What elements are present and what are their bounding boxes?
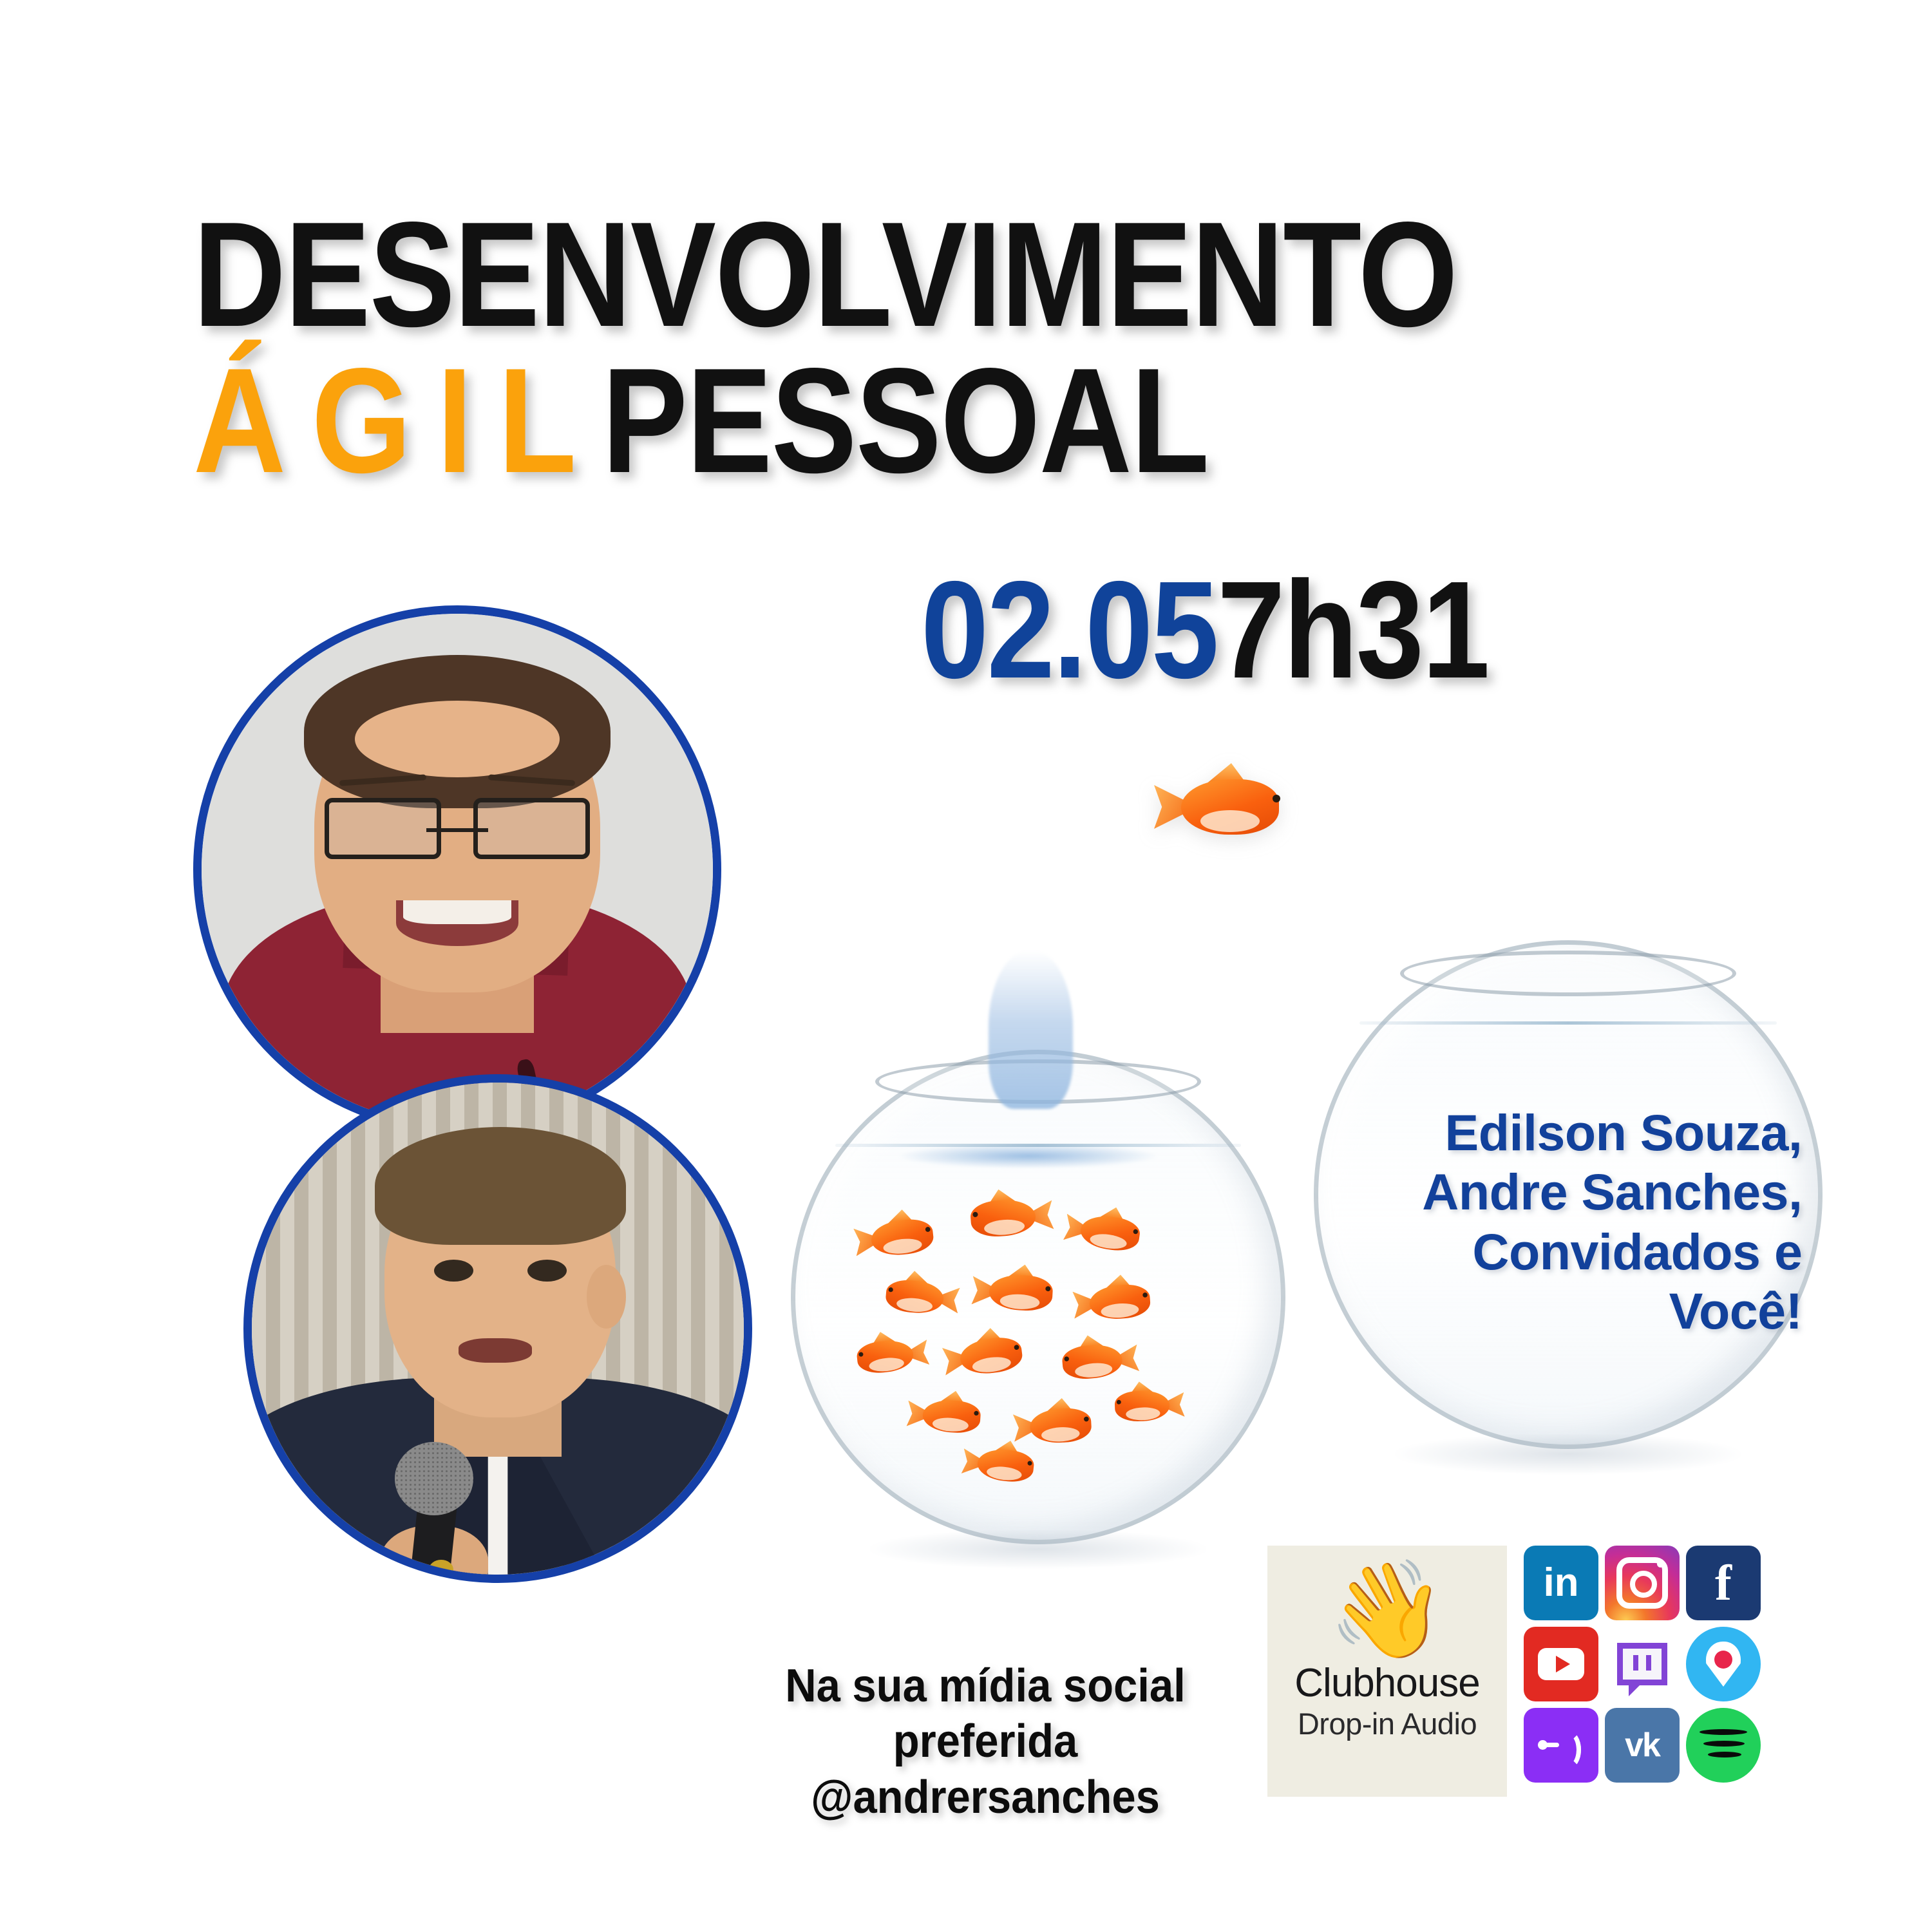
- water-splash: [989, 951, 1073, 1109]
- event-datetime: 02.057h31: [921, 560, 1488, 699]
- clubhouse-name: Clubhouse: [1294, 1660, 1479, 1706]
- speaker-line-3: Convidados e: [1334, 1222, 1803, 1282]
- jumping-fish-icon: [1159, 779, 1294, 838]
- portrait-speaker-1: [193, 605, 721, 1133]
- title-block: DESENVOLVIMENTO ÁGILPESSOAL: [193, 206, 1739, 490]
- poster-canvas: DESENVOLVIMENTO ÁGILPESSOAL 02.057h31: [0, 0, 1932, 1932]
- facebook-glyph: f: [1715, 1560, 1732, 1605]
- microphone-icon: [395, 1442, 473, 1516]
- twitch-icon[interactable]: [1605, 1627, 1680, 1701]
- title-line-1: DESENVOLVIMENTO: [193, 206, 1522, 343]
- portrait-1-artwork: [202, 614, 713, 1125]
- linkedin-icon[interactable]: in: [1524, 1546, 1598, 1620]
- vk-icon[interactable]: vk: [1605, 1708, 1680, 1783]
- clubhouse-logo: 👋 Clubhouse Drop-in Audio: [1267, 1546, 1507, 1797]
- instagram-icon[interactable]: [1605, 1546, 1680, 1620]
- social-media-callout: Na sua mídia social preferida @andrersan…: [716, 1658, 1255, 1825]
- periscope-icon[interactable]: [1686, 1627, 1761, 1701]
- spotify-icon[interactable]: [1686, 1708, 1761, 1783]
- portrait-2-artwork: [252, 1083, 744, 1575]
- clubhouse-subtitle: Drop-in Audio: [1298, 1706, 1477, 1741]
- social-icon-grid: in f vk: [1524, 1546, 1761, 1783]
- empty-fishbowl: Edilson Souza, Andre Sanches, Convidados…: [1314, 940, 1823, 1449]
- event-date: 02.05: [921, 552, 1217, 707]
- facebook-icon[interactable]: f: [1686, 1546, 1761, 1620]
- speaker-line-1: Edilson Souza,: [1334, 1103, 1803, 1162]
- speaker-line-2: Andre Sanches,: [1334, 1162, 1803, 1222]
- callout-line-1: Na sua mídia social: [716, 1658, 1255, 1714]
- title-line-2: ÁGILPESSOAL: [193, 352, 1522, 489]
- event-time: 7h31: [1217, 552, 1488, 707]
- crowded-fishbowl: [791, 1050, 1285, 1544]
- linkedin-glyph: in: [1543, 1563, 1578, 1603]
- callout-line-2: preferida @andrersanches: [716, 1714, 1255, 1825]
- speaker-list: Edilson Souza, Andre Sanches, Convidados…: [1334, 1103, 1803, 1341]
- title-word-pessoal: PESSOAL: [602, 337, 1208, 504]
- vk-glyph: vk: [1625, 1728, 1660, 1762]
- portrait-speaker-2: [243, 1074, 752, 1583]
- anchor-icon[interactable]: [1524, 1708, 1598, 1783]
- youtube-icon[interactable]: [1524, 1627, 1598, 1701]
- waving-hand-icon: 👋: [1328, 1562, 1446, 1658]
- speaker-line-4: Você!: [1334, 1282, 1803, 1341]
- title-highlight-agil: ÁGIL: [193, 337, 602, 504]
